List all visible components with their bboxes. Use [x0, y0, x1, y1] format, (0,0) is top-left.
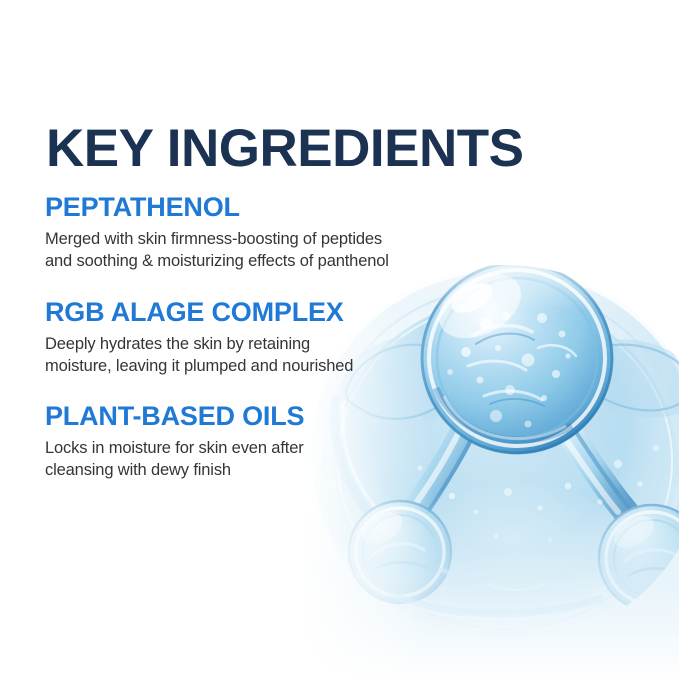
ingredient-section-rgb-alage-complex: RGB ALAGE COMPLEX Deeply hydrates the sk…	[45, 297, 475, 378]
key-ingredients-infographic: KEY INGREDIENTS PEPTATHENOL Merged with …	[0, 0, 679, 679]
description-line: moisture, leaving it plumped and nourish…	[45, 356, 475, 378]
description-line: cleansing with dewy finish	[45, 460, 475, 482]
ingredient-section-plant-based-oils: PLANT-BASED OILS Locks in moisture for s…	[45, 401, 475, 482]
ingredient-heading: PLANT-BASED OILS	[45, 401, 475, 431]
ingredient-heading: RGB ALAGE COMPLEX	[45, 297, 475, 327]
content-layer: KEY INGREDIENTS PEPTATHENOL Merged with …	[0, 0, 679, 679]
description-line: Deeply hydrates the skin by retaining	[45, 334, 475, 356]
ingredient-description: Merged with skin firmness-boosting of pe…	[45, 229, 475, 273]
ingredient-description: Locks in moisture for skin even after cl…	[45, 438, 475, 482]
ingredient-section-peptathenol: PEPTATHENOL Merged with skin firmness-bo…	[45, 192, 475, 273]
description-line: and soothing & moisturizing effects of p…	[45, 251, 475, 273]
page-title: KEY INGREDIENTS	[46, 122, 523, 175]
ingredient-description: Deeply hydrates the skin by retaining mo…	[45, 334, 475, 378]
description-line: Merged with skin firmness-boosting of pe…	[45, 229, 475, 251]
description-line: Locks in moisture for skin even after	[45, 438, 475, 460]
ingredient-heading: PEPTATHENOL	[45, 192, 475, 222]
